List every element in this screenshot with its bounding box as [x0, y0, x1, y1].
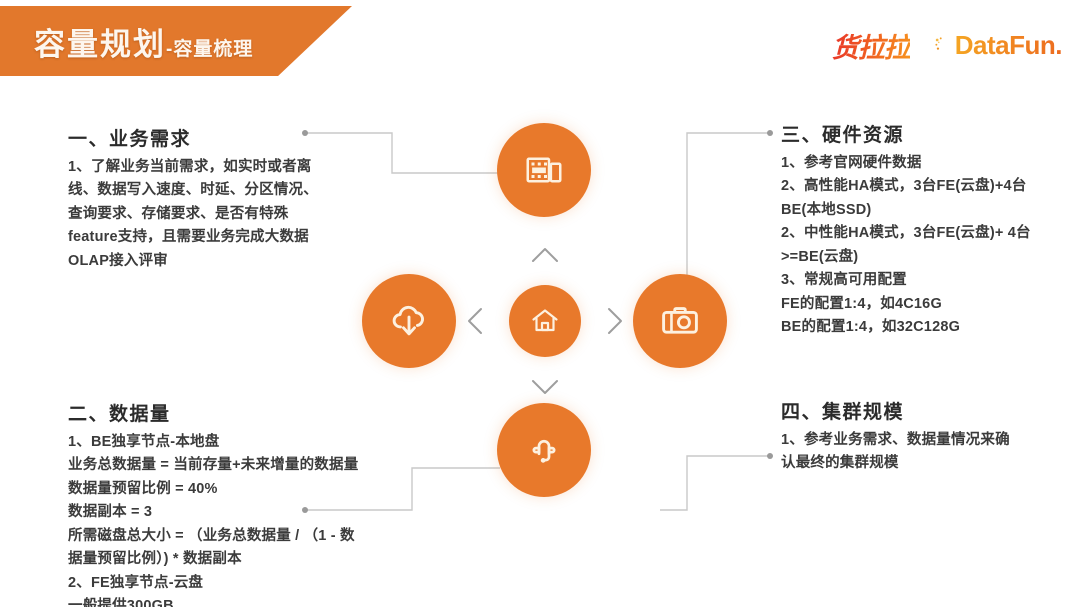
page-title: 容量规划 [34, 19, 166, 64]
node-film-strip[interactable] [497, 123, 591, 217]
page-header: 容量规划 -容量梳理 货拉拉 DataFun. [0, 0, 1080, 96]
chevron-up-icon [533, 249, 557, 261]
data-volume-line: 一般提供300GB [68, 598, 174, 607]
chevron-down-icon [533, 381, 557, 393]
block-data-volume: 二、数据量 1、BE独享节点-本地盘 业务总数据量 = 当前存量+未来增量的数据… [68, 399, 368, 607]
title-banner: 容量规划 -容量梳理 [0, 6, 352, 76]
block-heading-hardware-resources: 三、硬件资源 [781, 120, 1031, 147]
page-subtitle: -容量梳理 [166, 34, 253, 61]
data-volume-line: 数据量预留比例 = 40% [68, 481, 218, 497]
data-volume-line: 数据副本 = 3 [68, 504, 152, 520]
hardware-line: 2、中性能HA模式，3台FE(云盘)+ 4台>=BE(云盘) [781, 225, 1031, 264]
chevron-left-icon [469, 309, 481, 333]
block-body-data-volume: 1、BE独享节点-本地盘 业务总数据量 = 当前存量+未来增量的数据量 数据量预… [68, 431, 368, 607]
connector-top-left [305, 133, 500, 173]
hardware-line: BE的配置1:4，如32C128G [781, 319, 960, 335]
logo-group: 货拉拉 DataFun. [832, 26, 1062, 65]
film-strip-icon [524, 150, 564, 190]
diagram-stage: 一、业务需求 1、了解业务当前需求，如实时或者离线、数据写入速度、时延、分区情况… [0, 96, 1080, 607]
datafun-wordmark: DataFun. [955, 30, 1062, 61]
block-heading-data-volume: 二、数据量 [68, 399, 368, 426]
data-volume-line: 所需磁盘总大小 = （业务总数据量 / （1 - 数据量预留比例）) * 数据副… [68, 528, 355, 567]
node-home-hub[interactable] [509, 285, 581, 357]
title-banner-text: 容量规划 -容量梳理 [0, 19, 253, 64]
node-headset[interactable] [497, 403, 591, 497]
data-volume-line: 2、FE独享节点-云盘 [68, 575, 203, 591]
datafun-logo: DataFun. [934, 30, 1062, 61]
block-body-business-requirements: 1、了解业务当前需求，如实时或者离线、数据写入速度、时延、分区情况、查询要求、存… [68, 156, 328, 273]
block-business-requirements: 一、业务需求 1、了解业务当前需求，如实时或者离线、数据写入速度、时延、分区情况… [68, 124, 328, 273]
camera-icon [659, 300, 701, 342]
block-heading-business-requirements: 一、业务需求 [68, 124, 328, 151]
hardware-line: FE的配置1:4，如4C16G [781, 296, 942, 312]
lalamove-logo: 货拉拉 [832, 26, 910, 65]
hardware-line: 1、参考官网硬件数据 [781, 155, 922, 171]
block-body-hardware-resources: 1、参考官网硬件数据 2、高性能HA模式，3台FE(云盘)+4台BE(本地SSD… [781, 152, 1031, 340]
block-heading-cluster-scale: 四、集群规模 [781, 397, 1021, 424]
cloud-download-icon [388, 300, 430, 342]
home-icon [529, 305, 561, 337]
chevron-right-icon [609, 309, 621, 333]
datafun-mark-icon [934, 36, 953, 55]
data-volume-line: 业务总数据量 = 当前存量+未来增量的数据量 [68, 457, 358, 473]
headset-icon [524, 430, 564, 470]
block-hardware-resources: 三、硬件资源 1、参考官网硬件数据 2、高性能HA模式，3台FE(云盘)+4台B… [781, 120, 1031, 340]
data-volume-line: 1、BE独享节点-本地盘 [68, 434, 219, 450]
node-camera[interactable] [633, 274, 727, 368]
block-body-cluster-scale: 1、参考业务需求、数据量情况来确认最终的集群规模 [781, 429, 1021, 476]
connector-bottom-right [660, 456, 770, 510]
node-cloud-download[interactable] [362, 274, 456, 368]
block-cluster-scale: 四、集群规模 1、参考业务需求、数据量情况来确认最终的集群规模 [781, 397, 1021, 476]
hardware-line: 3、常规高可用配置 [781, 272, 907, 288]
hardware-line: 2、高性能HA模式，3台FE(云盘)+4台BE(本地SSD) [781, 178, 1027, 217]
